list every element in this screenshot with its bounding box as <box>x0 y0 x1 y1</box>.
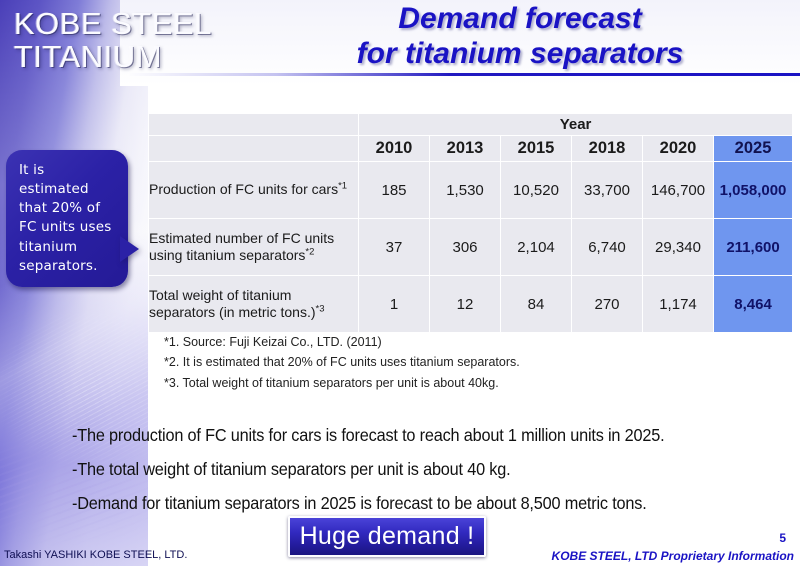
cell-production-2018: 33,700 <box>572 162 643 219</box>
column-header-2010: 2010 <box>359 136 430 162</box>
footer-author: Takashi YASHIKI KOBE STEEL, LTD. <box>4 549 187 561</box>
slide-title: Demand forecast for titanium separators <box>250 1 790 72</box>
footnote-3: *3. Total weight of titanium separators … <box>164 373 764 393</box>
footer-proprietary-notice: KOBE STEEL, LTD Proprietary Information <box>552 549 794 563</box>
cell-weight-2013: 12 <box>430 276 501 333</box>
cell-estimated-2020: 29,340 <box>643 219 714 276</box>
page-number: 5 <box>779 531 786 545</box>
cell-estimated-2013: 306 <box>430 219 501 276</box>
bullet-item-2: -The total weight of titanium separators… <box>72 452 745 486</box>
column-header-2020: 2020 <box>643 136 714 162</box>
cell-weight-2010: 1 <box>359 276 430 333</box>
bullet-list: -The production of FC units for cars is … <box>72 418 745 520</box>
forecast-table: Year 2010 2013 2015 2018 2020 2025 Produ… <box>148 113 793 333</box>
column-header-2018: 2018 <box>572 136 643 162</box>
row-label-estimated-fc-units: Estimated number of FC units using titan… <box>149 219 359 276</box>
cell-production-2013: 1,530 <box>430 162 501 219</box>
bullet-item-1: -The production of FC units for cars is … <box>72 418 745 452</box>
footnote-2: *2. It is estimated that 20% of FC units… <box>164 352 764 372</box>
cell-estimated-2010: 37 <box>359 219 430 276</box>
cell-estimated-2025: 211,600 <box>714 219 793 276</box>
table-row: Total weight of titanium separators (in … <box>149 276 793 333</box>
column-header-2013: 2013 <box>430 136 501 162</box>
cell-estimated-2018: 6,740 <box>572 219 643 276</box>
row-label-text: Production of FC units for cars <box>149 181 338 197</box>
cell-weight-2020: 1,174 <box>643 276 714 333</box>
table-group-header-year: Year <box>359 114 793 136</box>
table-corner-cell <box>149 114 359 136</box>
cell-production-2025: 1,058,000 <box>714 162 793 219</box>
title-divider <box>128 73 800 76</box>
column-header-2015: 2015 <box>501 136 572 162</box>
cell-production-2020: 146,700 <box>643 162 714 219</box>
table-corner-cell-2 <box>149 136 359 162</box>
cell-production-2010: 185 <box>359 162 430 219</box>
row-footnote-marker: *3 <box>316 303 325 314</box>
slide-canvas: KOBE STEEL TITANIUM Demand forecast for … <box>0 0 800 566</box>
kobe-steel-titanium-logo: KOBE STEEL TITANIUM <box>14 8 274 73</box>
row-label-total-weight: Total weight of titanium separators (in … <box>149 276 359 333</box>
row-footnote-marker: *1 <box>338 181 347 192</box>
row-footnote-marker: *2 <box>305 246 314 257</box>
column-header-2025: 2025 <box>714 136 793 162</box>
table-row: Estimated number of FC units using titan… <box>149 219 793 276</box>
cell-weight-2025: 8,464 <box>714 276 793 333</box>
table-header-group-row: Year <box>149 114 793 136</box>
cell-estimated-2015: 2,104 <box>501 219 572 276</box>
cell-weight-2015: 84 <box>501 276 572 333</box>
row-label-text: Total weight of titanium separators (in … <box>149 287 316 321</box>
callout-bubble-tail <box>120 236 139 262</box>
forecast-table-container: Year 2010 2013 2015 2018 2020 2025 Produ… <box>148 113 793 333</box>
footnotes-block: *1. Source: Fuji Keizai Co., LTD. (2011)… <box>164 332 764 393</box>
cell-production-2015: 10,520 <box>501 162 572 219</box>
row-label-production-fc-units: Production of FC units for cars*1 <box>149 162 359 219</box>
footnote-1: *1. Source: Fuji Keizai Co., LTD. (2011) <box>164 332 764 352</box>
table-header-year-row: 2010 2013 2015 2018 2020 2025 <box>149 136 793 162</box>
table-row: Production of FC units for cars*1 185 1,… <box>149 162 793 219</box>
cell-weight-2018: 270 <box>572 276 643 333</box>
conclusion-banner: Huge demand ! <box>288 516 486 557</box>
callout-bubble: It is estimated that 20% of FC units use… <box>6 150 128 287</box>
